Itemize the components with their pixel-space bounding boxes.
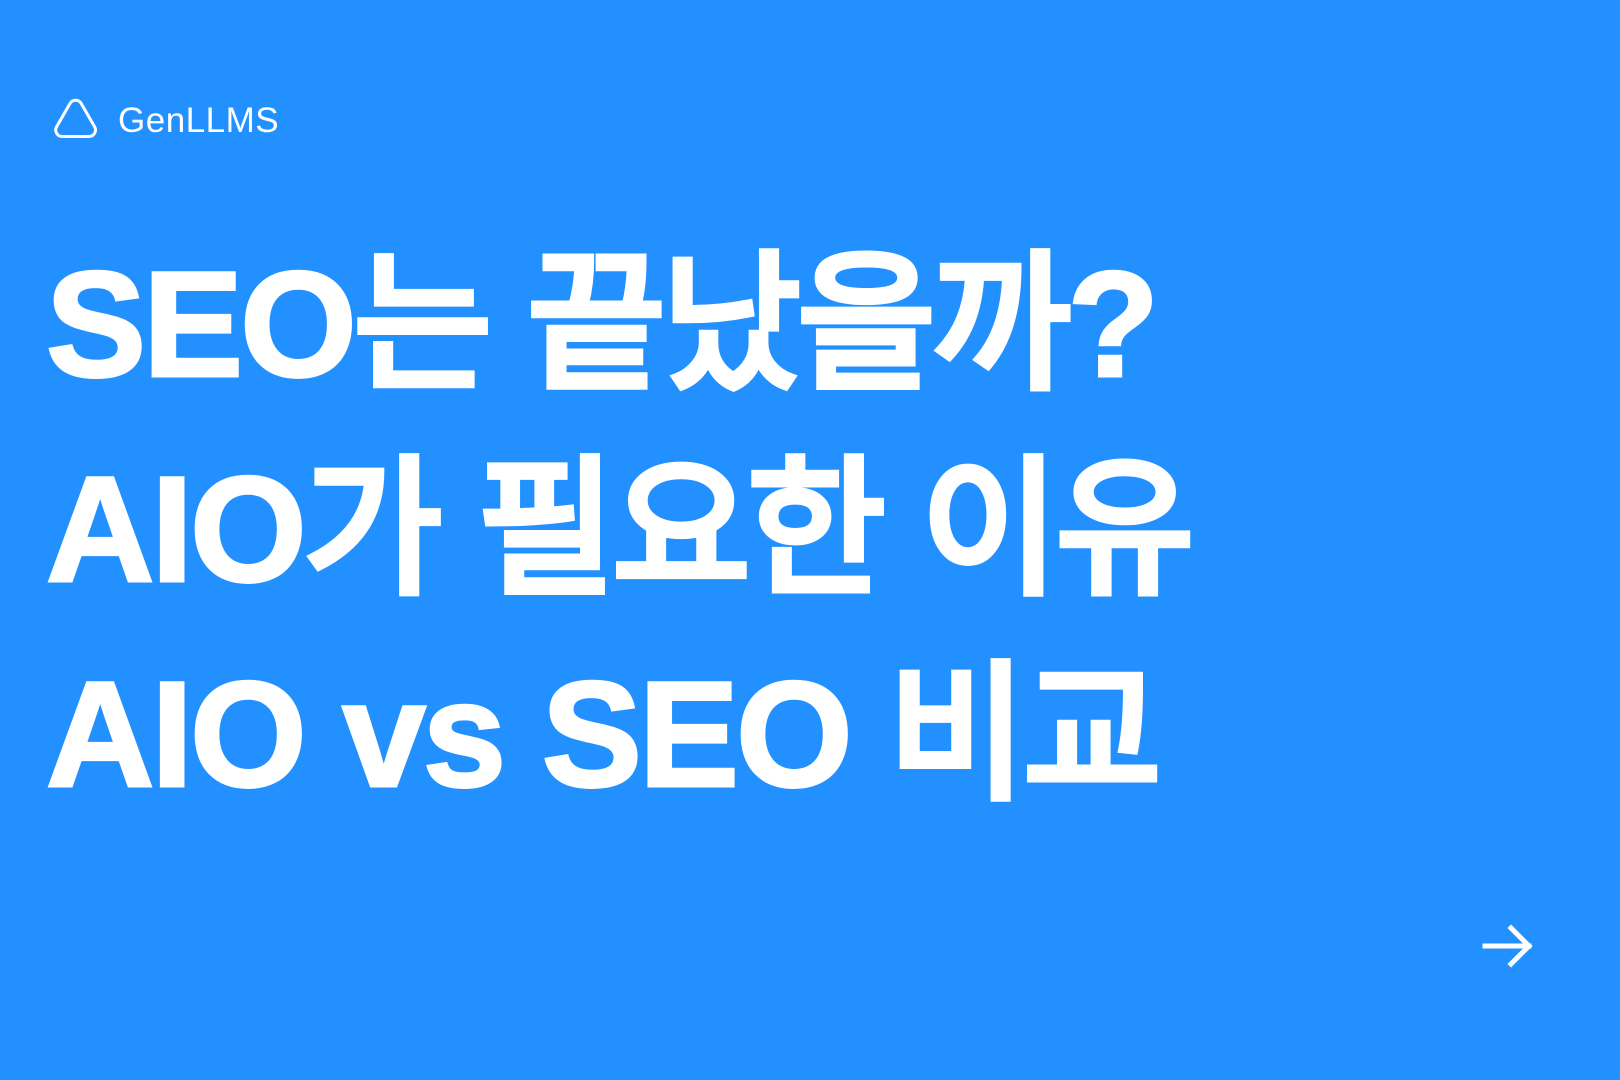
brand-name: GenLLMS (118, 103, 279, 138)
rounded-triangle-icon (48, 94, 100, 146)
headline-line-2: AIO가 필요한 이유 (46, 427, 1546, 632)
page-title: SEO는 끝났을까? AIO가 필요한 이유 AIO vs SEO 비교 (46, 222, 1546, 837)
next-slide-button[interactable] (1481, 920, 1537, 972)
arrow-right-icon (1481, 920, 1537, 972)
brand-logo: GenLLMS (48, 92, 279, 148)
headline-line-3: AIO vs SEO 비교 (46, 632, 1546, 837)
headline-line-1: SEO는 끝났을까? (46, 222, 1546, 427)
slide-canvas: GenLLMS SEO는 끝났을까? AIO가 필요한 이유 AIO vs SE… (0, 0, 1620, 1080)
